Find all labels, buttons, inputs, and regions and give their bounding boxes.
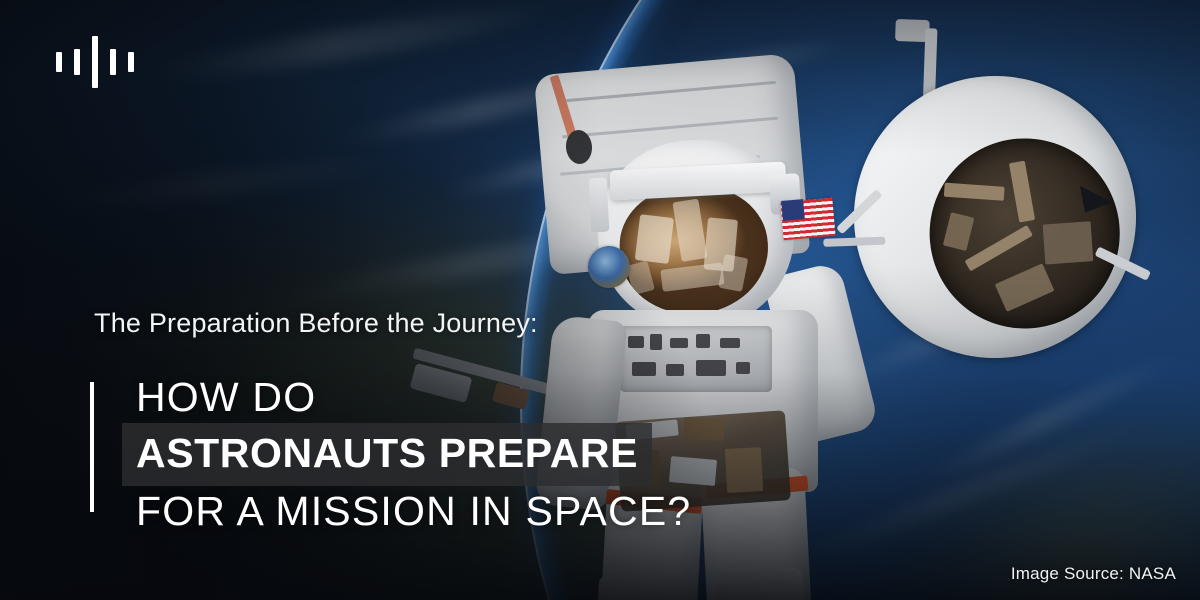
image-source-credit: Image Source: NASA (1011, 564, 1176, 584)
logo-bar-4 (110, 49, 116, 75)
logo-bar-5 (128, 52, 134, 72)
logo-bar-1 (56, 52, 62, 72)
headline-line-2-highlighted: ASTRONAUTS PREPARE (122, 423, 652, 486)
headline-line-1: HOW DO (136, 372, 756, 423)
headline-line-3: FOR A MISSION IN SPACE? (136, 486, 756, 537)
equalizer-waveform-logo[interactable] (56, 36, 134, 88)
logo-bar-2 (74, 49, 80, 75)
kicker-text: The Preparation Before the Journey: (94, 308, 538, 339)
astronaut-hero-banner: The Preparation Before the Journey: HOW … (0, 0, 1200, 600)
headline-line-2-wrapper: ASTRONAUTS PREPARE (136, 423, 756, 486)
headline-block: HOW DO ASTRONAUTS PREPARE FOR A MISSION … (136, 372, 756, 537)
vertical-accent-bar (90, 382, 94, 512)
logo-bar-3 (92, 36, 98, 88)
